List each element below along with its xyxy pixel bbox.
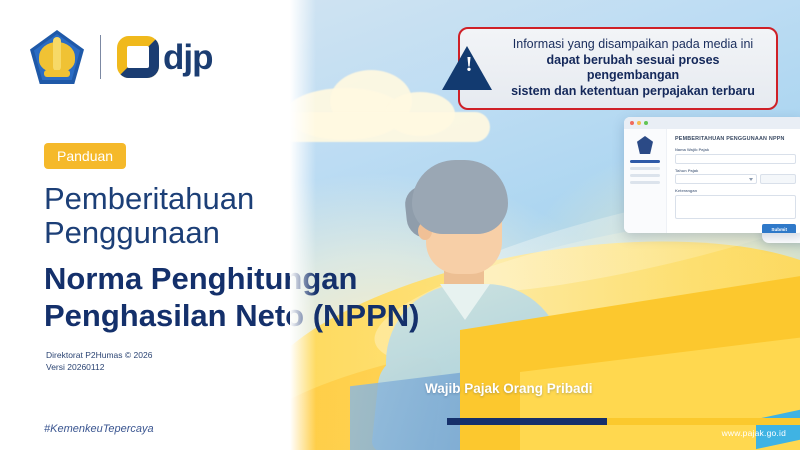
warning-banner: ! Informasi yang disampaikan pada media … [458,27,778,110]
panduan-badge: Panduan [44,143,126,169]
website-url[interactable]: www.pajak.go.id [722,428,786,438]
cloud-icon [290,112,490,142]
seal-wing [39,42,75,72]
form-title: PEMBERITAHUAN PENGGUNAAN NPPN [675,136,796,142]
caption-text: Wajib Pajak Orang Pribadi [425,381,593,396]
window-body: PEMBERITAHUAN PENGGUNAAN NPPN Nama Wajib… [624,129,800,233]
form-window-mockup[interactable]: PEMBERITAHUAN PENGGUNAAN NPPN Nama Wajib… [624,117,800,233]
tahun-row [675,174,796,184]
djp-wordmark: djp [163,40,212,75]
tahun-secondary-input[interactable] [760,174,796,184]
nama-input[interactable] [675,154,796,164]
sidebar-item[interactable] [630,181,660,184]
warning-triangle-icon: ! [442,46,492,90]
kemenkeu-seal-icon [30,30,84,84]
field-label-tahun: Tahun Pajak [675,168,796,173]
yellow-accent-bar [607,418,800,425]
credit-block: Direktorat P2Humas © 2026 Versi 20260112 [46,349,152,374]
warning-line-3: sistem dan ketentuan perpajakan terbaru [500,84,766,100]
maximize-icon[interactable] [644,121,648,125]
sidebar-item[interactable] [630,167,660,170]
window-sidebar [624,129,667,233]
djp-mark-icon [117,36,159,78]
credit-line-2: Versi 20260112 [46,361,152,373]
field-label-nama: Nama Wajib Pajak [675,147,796,152]
tahun-select[interactable] [675,174,757,184]
warning-line-1: Informasi yang disampaikan pada media in… [500,37,766,53]
logo-lockup: djp [30,30,212,84]
seal-base [44,70,70,77]
close-icon[interactable] [630,121,634,125]
warning-line-2: dapat berubah sesuai proses pengembangan [500,53,766,84]
sidebar-logo-icon [637,136,653,154]
hashtag-text: #KemenkeuTepercaya [44,423,154,435]
keterangan-textarea[interactable] [675,195,796,219]
window-titlebar [624,117,800,129]
field-label-keterangan: Keterangan [675,188,796,193]
djp-logo: djp [117,36,212,78]
sidebar-item-active[interactable] [630,160,660,163]
submit-button[interactable]: Submit [762,224,796,234]
credit-line-1: Direktorat P2Humas © 2026 [46,349,152,361]
form-area: PEMBERITAHUAN PENGGUNAAN NPPN Nama Wajib… [667,129,800,233]
infographic-slide: JAN-MAR [0,0,800,450]
title-line-2: Penggunaan [44,216,220,250]
djp-mark-center [127,46,149,68]
person-hair [412,160,508,234]
sidebar-item[interactable] [630,174,660,177]
logo-divider [100,35,101,79]
panel-edge-fade [290,0,316,450]
title-line-4: Penghasilan Neto (NPPN) [44,299,420,334]
navy-accent-bar [447,418,607,425]
minimize-icon[interactable] [637,121,641,125]
exclamation-glyph: ! [466,54,473,75]
title-line-1: Pemberitahuan [44,182,254,216]
